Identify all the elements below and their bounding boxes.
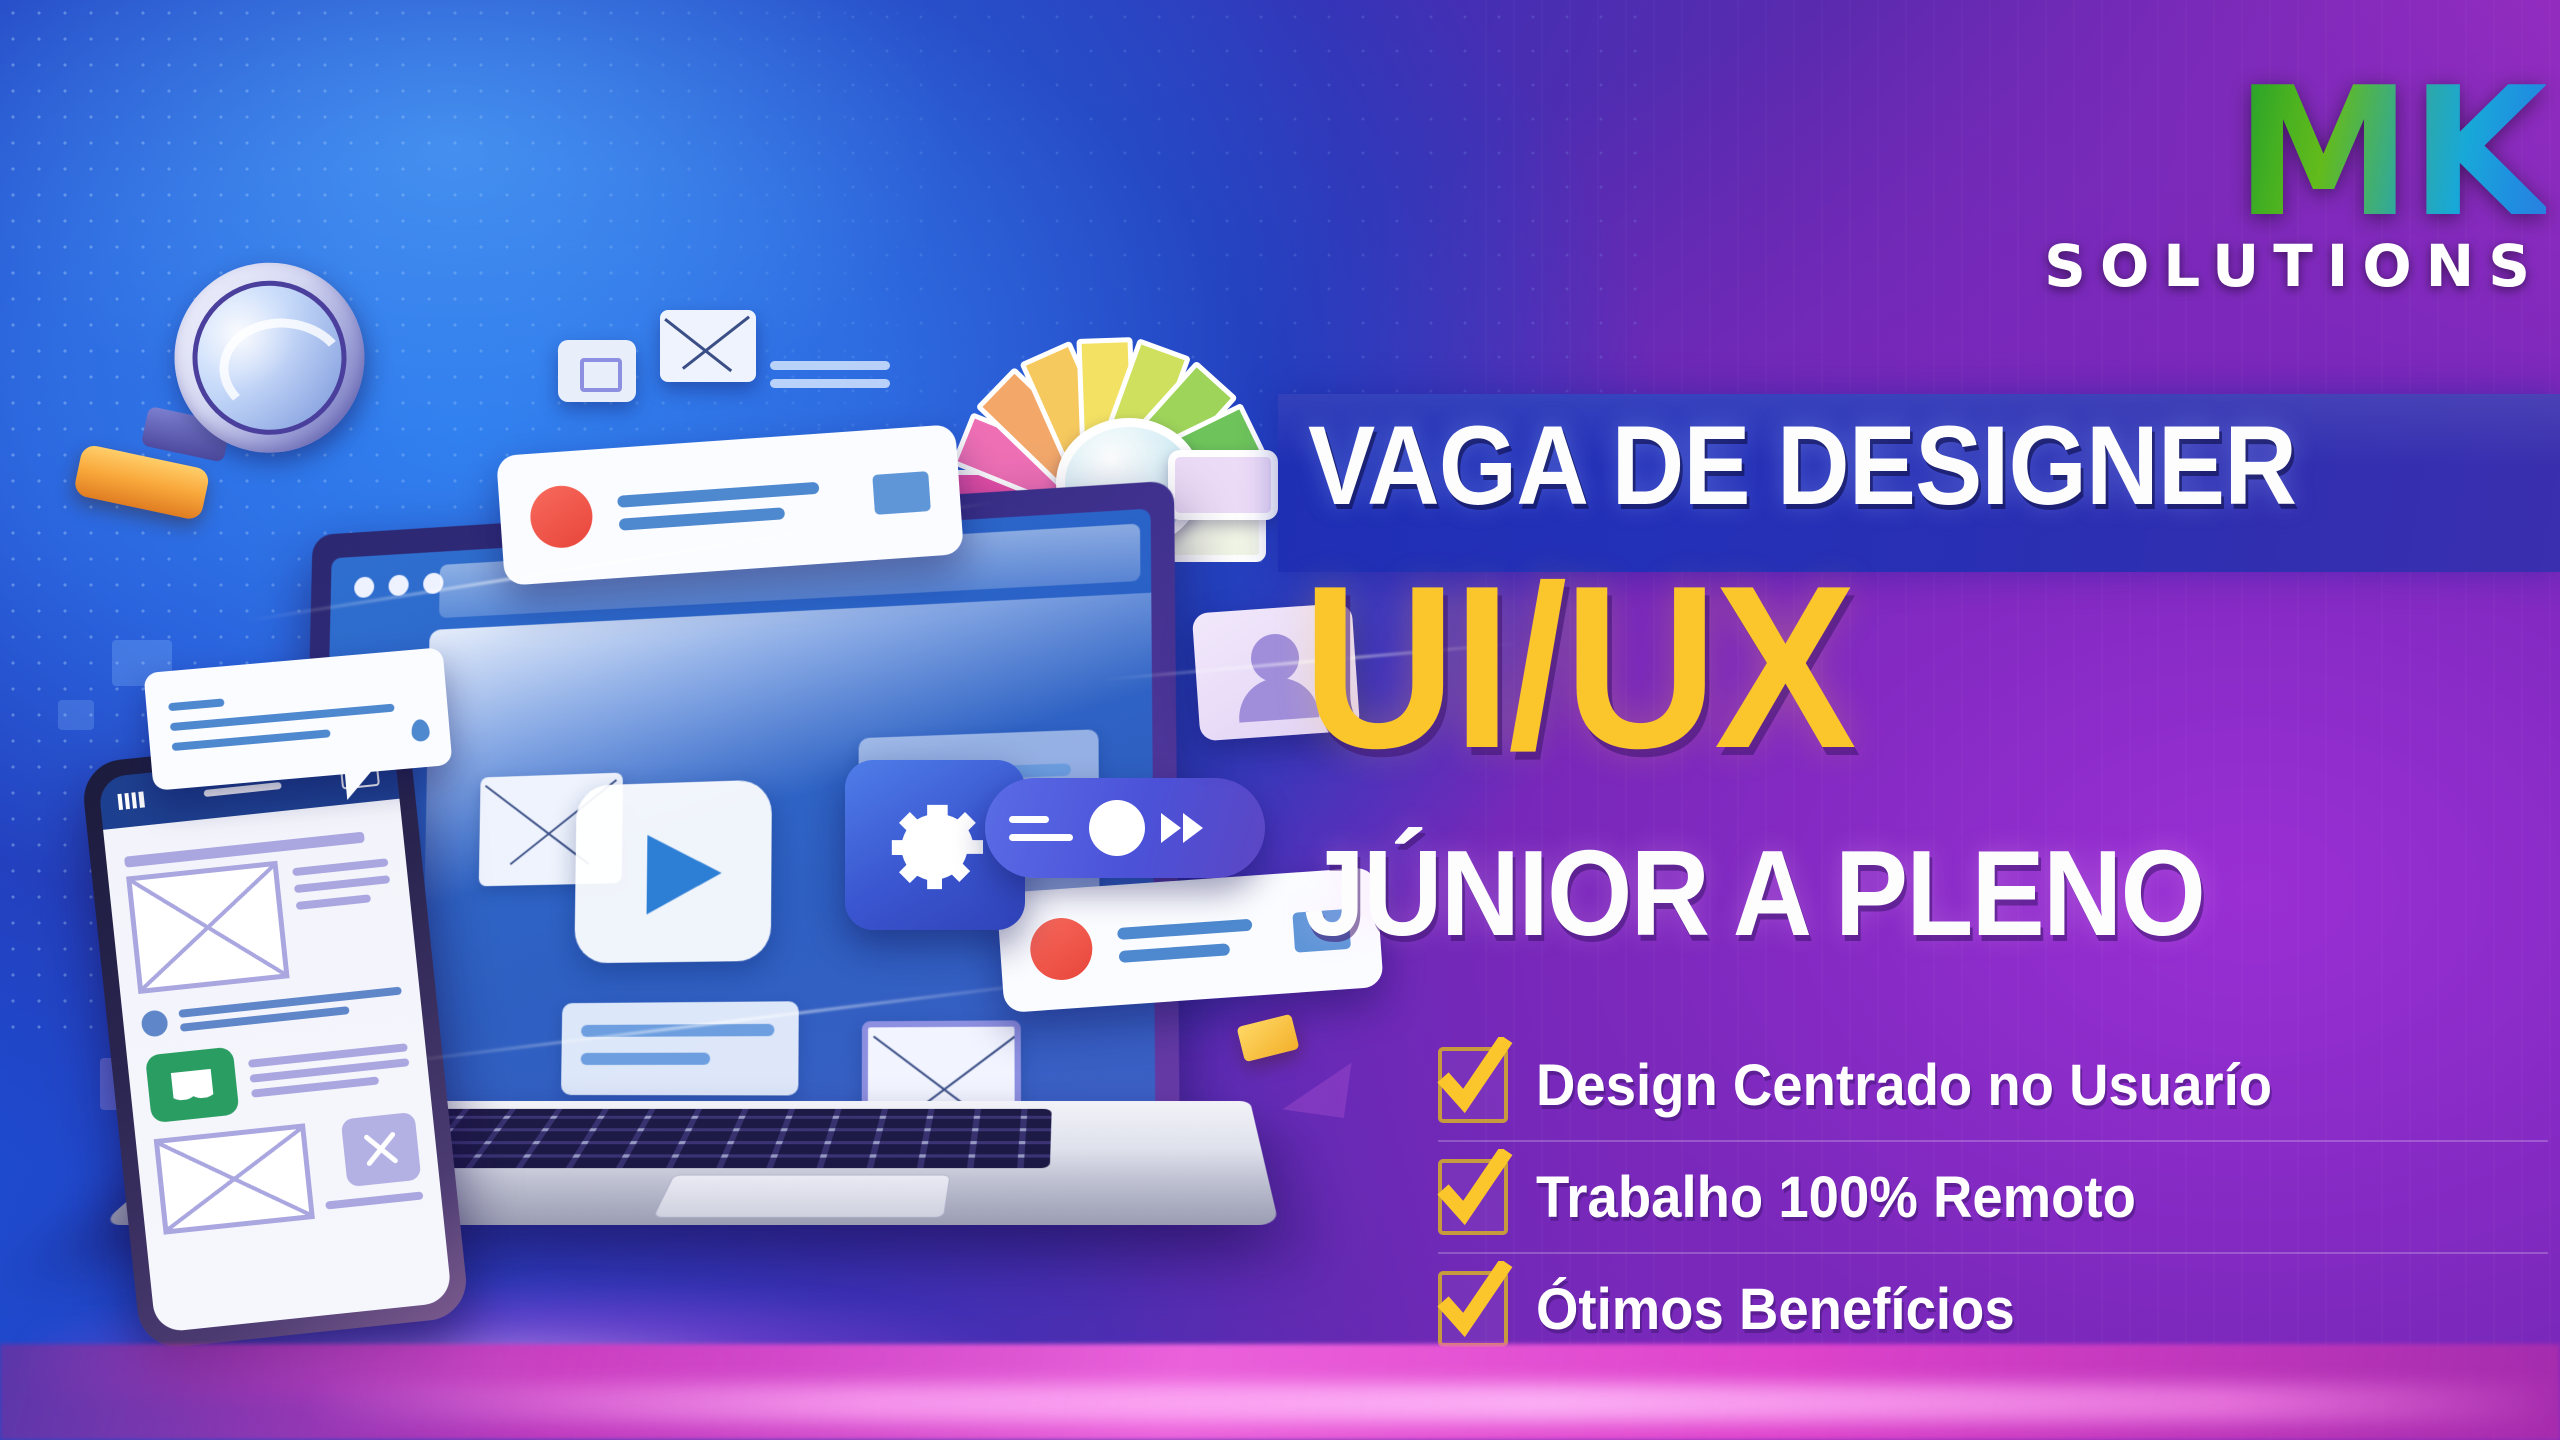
- bottom-pink-highlight: [307, 1384, 2560, 1422]
- checklist-item: Trabalho 100% Remoto: [1438, 1140, 2548, 1252]
- headline-line-1: VAGA DE DESIGNER: [1308, 410, 2435, 522]
- fast-forward-icon: [1161, 813, 1203, 843]
- avatar: [140, 1009, 169, 1038]
- thumbnail-square: [872, 471, 931, 515]
- wireframe-line: [294, 875, 390, 893]
- phone-screen: [98, 747, 453, 1333]
- logo-mark-text: MK: [2235, 80, 2546, 226]
- toggle-switch-icon: [985, 778, 1265, 878]
- checklist-item: Design Centrado no Usuarío: [1438, 1030, 2548, 1140]
- gear-icon: [877, 790, 991, 904]
- avatar-dot: [528, 484, 594, 550]
- checklist-item-label: Ótimos Benefícios: [1536, 1276, 2015, 1343]
- brand-logo: MK SOLUTIONS: [2044, 80, 2546, 300]
- checkbox-icon: [1438, 1047, 1508, 1123]
- mini-card-icon: [558, 340, 636, 402]
- checkbox-icon: [1438, 1271, 1508, 1347]
- envelope-icon: [660, 310, 756, 382]
- close-icon: [341, 1112, 422, 1187]
- checklist-item-label: Design Centrado no Usuarío: [1536, 1052, 2272, 1119]
- smartphone-icon: [80, 729, 470, 1350]
- decor-square-c: [58, 700, 94, 730]
- ui-bar: [581, 1053, 710, 1065]
- benefits-checklist: Design Centrado no Usuarío Trabalho 100%…: [1438, 1030, 2548, 1364]
- checkmark-icon: [1434, 1149, 1514, 1237]
- phone-wireframe-content: [103, 799, 452, 1333]
- heart-badge-icon: [145, 1046, 240, 1123]
- text-lines-icon: [770, 352, 890, 397]
- laptop-trackpad: [653, 1175, 951, 1218]
- checklist-item-label: Trabalho 100% Remoto: [1536, 1164, 2136, 1231]
- checkbox-icon: [1438, 1159, 1508, 1235]
- play-triangle: [647, 833, 722, 915]
- signal-icon: [117, 791, 145, 810]
- toggle-knob: [1089, 800, 1145, 856]
- wireframe-image-placeholder: [154, 1123, 315, 1234]
- checkmark-icon: [1434, 1261, 1514, 1349]
- avatar-dot: [1028, 916, 1094, 982]
- headline-line-2: UI/UX: [1302, 552, 2454, 784]
- wireframe-line: [325, 1191, 423, 1209]
- text-lines: [1009, 816, 1073, 841]
- text-lines: [1116, 906, 1270, 973]
- hero-illustration: [0, 0, 1500, 1440]
- checkmark-icon: [1434, 1037, 1514, 1125]
- headline-line-3: JÚNIOR A PLENO: [1304, 832, 2431, 954]
- location-pin-icon: [411, 719, 431, 742]
- poster-canvas: MK SOLUTIONS VAGA DE DESIGNER UI/UX JÚNI…: [0, 0, 2560, 1440]
- wireframe-image-placeholder: [126, 861, 289, 994]
- wireframe-line: [292, 858, 388, 876]
- text-column: MK SOLUTIONS VAGA DE DESIGNER UI/UX JÚNI…: [1278, 0, 2560, 1440]
- wireframe-line: [296, 894, 371, 910]
- play-button-icon: [574, 779, 772, 963]
